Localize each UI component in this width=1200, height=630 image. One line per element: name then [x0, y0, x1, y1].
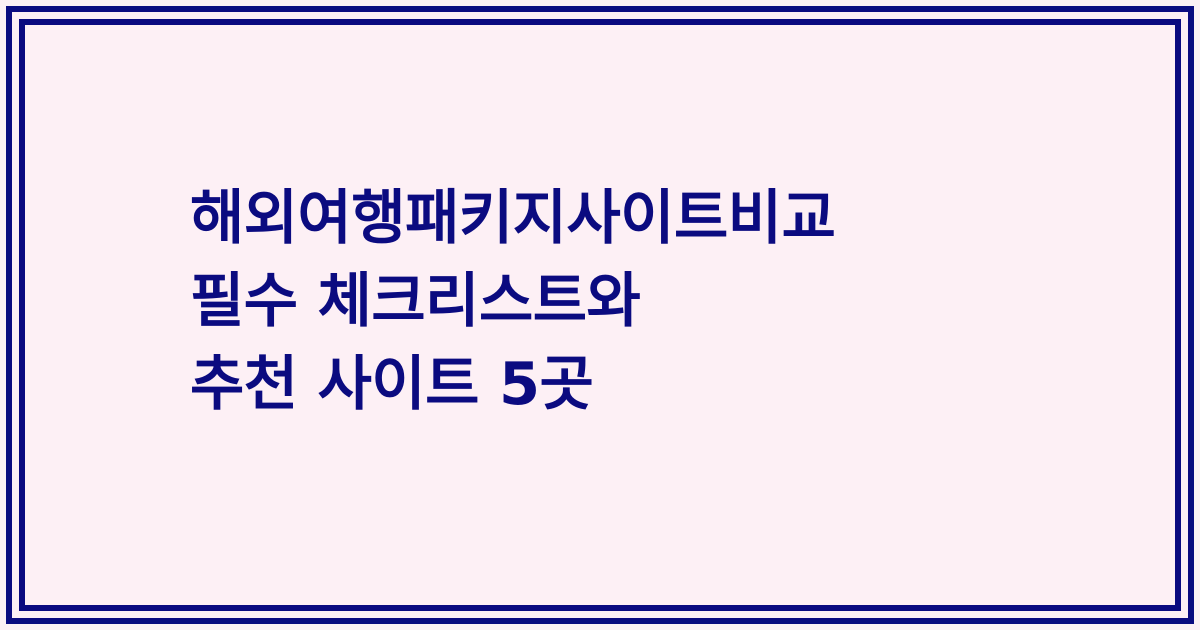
- title-line-3: 추천 사이트 5곳: [190, 342, 593, 425]
- title-line-1: 해외여행패키지사이트비교: [190, 176, 835, 259]
- title-line-2: 필수 체크리스트와: [190, 259, 640, 342]
- page-title: 해외여행패키지사이트비교 필수 체크리스트와 추천 사이트 5곳: [190, 176, 1140, 425]
- thumbnail-canvas: 해외여행패키지사이트비교 필수 체크리스트와 추천 사이트 5곳: [0, 0, 1200, 630]
